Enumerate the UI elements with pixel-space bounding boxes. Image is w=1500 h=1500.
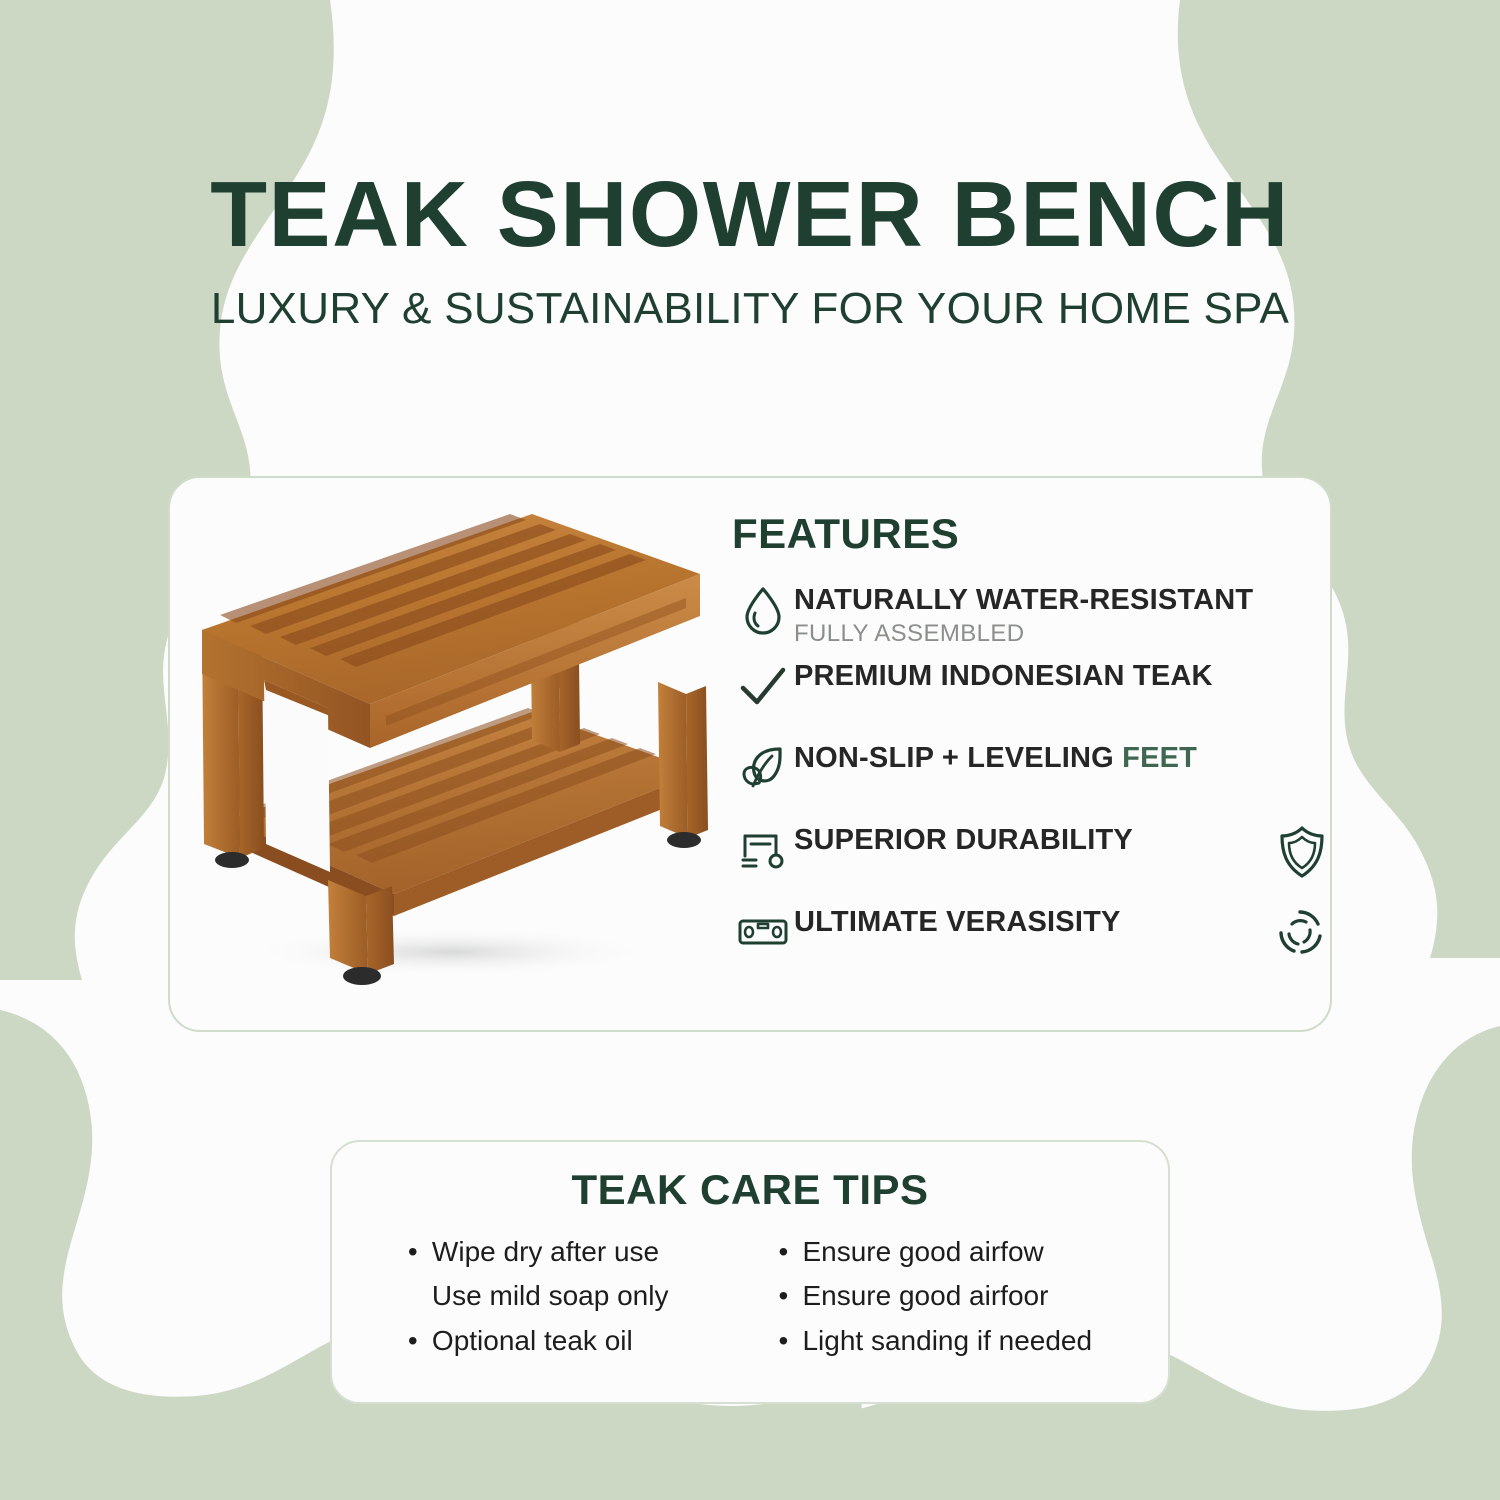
care-tips-right-column: • Ensure good airfow • Ensure good airfo…: [778, 1236, 1092, 1357]
feature-row: NATURALLY WATER-RESISTANT FULLY ASSEMBLE…: [732, 580, 1318, 648]
feature-text: PREMIUM INDONESIAN TEAK: [794, 656, 1318, 692]
care-tips-columns: • Wipe dry after use Use mild soap only …: [332, 1236, 1168, 1357]
list-item: • Ensure good airfoor: [778, 1280, 1092, 1312]
product-image-teak-shower-bench: [180, 500, 720, 1000]
bullet-icon: •: [778, 1327, 790, 1355]
list-item: Use mild soap only: [408, 1280, 669, 1312]
bullet-icon: •: [408, 1327, 420, 1355]
spirit-level-icon: [732, 902, 794, 962]
features-card: FEATURES NATURALLY WATER-RESISTANT FULLY…: [168, 476, 1332, 1032]
teak-care-tips-card: TEAK CARE TIPS • Wipe dry after use Use …: [330, 1140, 1170, 1404]
water-drop-icon: [732, 580, 794, 640]
bullet-icon: •: [408, 1238, 420, 1266]
feature-text: ULTIMATE VERASISITY: [794, 902, 1318, 938]
tip-text: Light sanding if needed: [802, 1325, 1092, 1357]
tip-text: Wipe dry after use: [432, 1236, 659, 1268]
shield-icon: [1272, 822, 1332, 882]
leaf-icon: [732, 738, 794, 798]
tip-text: Ensure good airfow: [802, 1236, 1043, 1268]
feature-row: PREMIUM INDONESIAN TEAK: [732, 656, 1318, 724]
features-heading: FEATURES: [732, 510, 1318, 558]
checkmark-icon: [732, 656, 794, 716]
list-item: • Wipe dry after use: [408, 1236, 669, 1268]
features-list: FEATURES NATURALLY WATER-RESISTANT FULLY…: [732, 510, 1318, 984]
feature-subtitle: FULLY ASSEMBLED: [794, 620, 1318, 648]
page-title: TEAK SHOWER BENCH: [0, 168, 1500, 261]
tip-text: Use mild soap only: [432, 1280, 669, 1312]
feature-title: ULTIMATE VERASISITY: [794, 906, 1121, 938]
header: TEAK SHOWER BENCH LUXURY & SUSTAINABILIT…: [0, 168, 1500, 331]
tip-text: Ensure good airfoor: [802, 1280, 1048, 1312]
bullet-icon: •: [778, 1238, 790, 1266]
plumb-square-icon: [732, 820, 794, 880]
feature-row: ULTIMATE VERASISITY: [732, 902, 1318, 970]
recycle-icon: [1272, 904, 1332, 964]
feature-text: NATURALLY WATER-RESISTANT FULLY ASSEMBLE…: [794, 580, 1318, 648]
care-tips-left-column: • Wipe dry after use Use mild soap only …: [408, 1236, 669, 1357]
feature-row: NON-SLIP + LEVELING FEET: [732, 738, 1318, 806]
list-item: • Ensure good airfow: [778, 1236, 1092, 1268]
feature-title-main: NON-SLIP + LEVELING: [794, 742, 1122, 774]
feature-title-accent: FEET: [1122, 742, 1197, 774]
infographic-canvas: TEAK SHOWER BENCH LUXURY & SUSTAINABILIT…: [0, 0, 1500, 1500]
feature-text: NON-SLIP + LEVELING FEET: [794, 738, 1318, 774]
list-item: • Light sanding if needed: [778, 1325, 1092, 1357]
tip-text: Optional teak oil: [432, 1325, 633, 1357]
care-tips-heading: TEAK CARE TIPS: [332, 1166, 1168, 1214]
feature-title: NATURALLY WATER-RESISTANT: [794, 584, 1253, 616]
feature-title: SUPERIOR DURABILITY: [794, 824, 1133, 856]
feature-text: SUPERIOR DURABILITY: [794, 820, 1318, 856]
feature-title: PREMIUM INDONESIAN TEAK: [794, 660, 1213, 692]
list-item: • Optional teak oil: [408, 1325, 669, 1357]
bullet-icon: •: [778, 1282, 790, 1310]
page-subtitle: LUXURY & SUSTAINABILITY FOR YOUR HOME SP…: [0, 287, 1500, 331]
feature-title: NON-SLIP + LEVELING FEET: [794, 742, 1197, 774]
feature-row: SUPERIOR DURABILITY: [732, 820, 1318, 888]
